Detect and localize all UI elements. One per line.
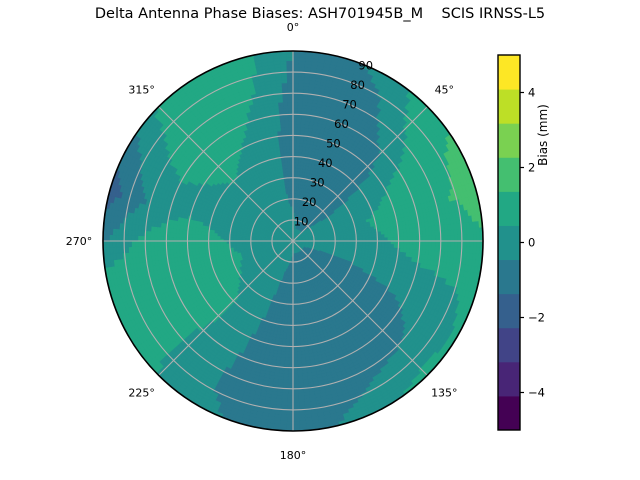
colorbar-band	[498, 191, 520, 226]
colorbar-band	[498, 260, 520, 295]
angular-tick-225: 225°	[128, 386, 155, 399]
radial-tick-60: 60	[334, 117, 349, 131]
colorbar-tick-label: −4	[528, 386, 545, 400]
colorbar-band	[498, 89, 520, 124]
radial-tick-30: 30	[310, 175, 325, 189]
polar-grid-layer	[103, 51, 483, 431]
radial-tick-90: 90	[358, 58, 373, 72]
angular-tick-135: 135°	[431, 386, 458, 399]
radial-tick-70: 70	[342, 97, 357, 111]
polar-plot-svg: 0°45°90°135°180°225°270°315° 10203040506…	[0, 0, 640, 480]
colorbar-axis-label: Bias (mm)	[536, 80, 550, 190]
colorbar-tick-label: −2	[528, 311, 545, 325]
colorbar-band	[498, 123, 520, 158]
colorbar-tick-label: 0	[528, 236, 535, 250]
angular-tick-270: 270°	[66, 235, 93, 248]
figure-canvas: Delta Antenna Phase Biases: ASH701945B_M…	[0, 0, 640, 480]
angular-tick-0: 0°	[287, 21, 300, 34]
colorbar-band	[498, 396, 520, 431]
radial-tick-20: 20	[302, 195, 317, 209]
colorbar-band	[498, 55, 520, 90]
colorbar-band	[498, 294, 520, 329]
colorbar-band	[498, 328, 520, 363]
colorbar-band	[498, 225, 520, 260]
colorbar-band	[498, 362, 520, 397]
radial-tick-50: 50	[326, 136, 341, 150]
colorbar-band	[498, 157, 520, 192]
angular-tick-45: 45°	[435, 84, 455, 97]
radial-tick-10: 10	[294, 214, 309, 228]
radial-tick-40: 40	[318, 156, 333, 170]
angular-tick-180: 180°	[280, 449, 307, 462]
colorbar-tick-label: 4	[528, 86, 535, 100]
colorbar-tick-label: 2	[528, 161, 535, 175]
angular-tick-315: 315°	[128, 84, 155, 97]
page-title: Delta Antenna Phase Biases: ASH701945B_M…	[0, 6, 640, 22]
radial-tick-80: 80	[350, 78, 365, 92]
